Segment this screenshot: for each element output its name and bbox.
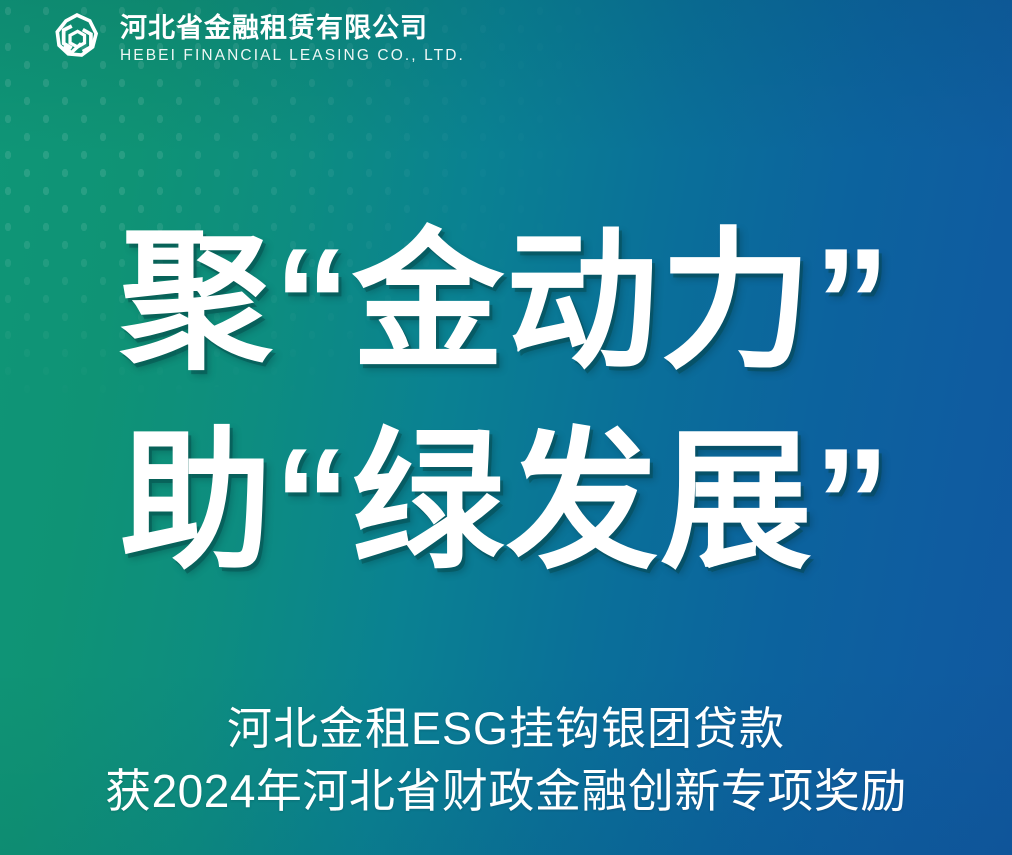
subtitle: 河北金租ESG挂钩银团贷款 获2024年河北省财政金融创新专项奖励 — [0, 698, 1012, 822]
brand-wordmark: 河北省金融租赁有限公司 HEBEI FINANCIAL LEASING CO.,… — [120, 14, 465, 66]
headline-line-1: 聚“金动力” — [0, 206, 1012, 398]
brand-lockup: 河北省金融租赁有限公司 HEBEI FINANCIAL LEASING CO.,… — [48, 11, 465, 69]
subtitle-line-2: 获2024年河北省财政金融创新专项奖励 — [0, 760, 1012, 822]
subtitle-line-1: 河北金租ESG挂钩银团贷款 — [0, 698, 1012, 760]
brand-name-cn: 河北省金融租赁有限公司 — [120, 14, 465, 43]
headline-line-2: 助“绿发展” — [0, 406, 1012, 598]
hebei-financial-leasing-logo-icon — [48, 11, 106, 69]
brand-name-en: HEBEI FINANCIAL LEASING CO., LTD. — [120, 46, 465, 65]
headline: 聚“金动力” 助“绿发展” — [0, 206, 1012, 598]
poster-root: 河北省金融租赁有限公司 HEBEI FINANCIAL LEASING CO.,… — [0, 0, 1012, 855]
